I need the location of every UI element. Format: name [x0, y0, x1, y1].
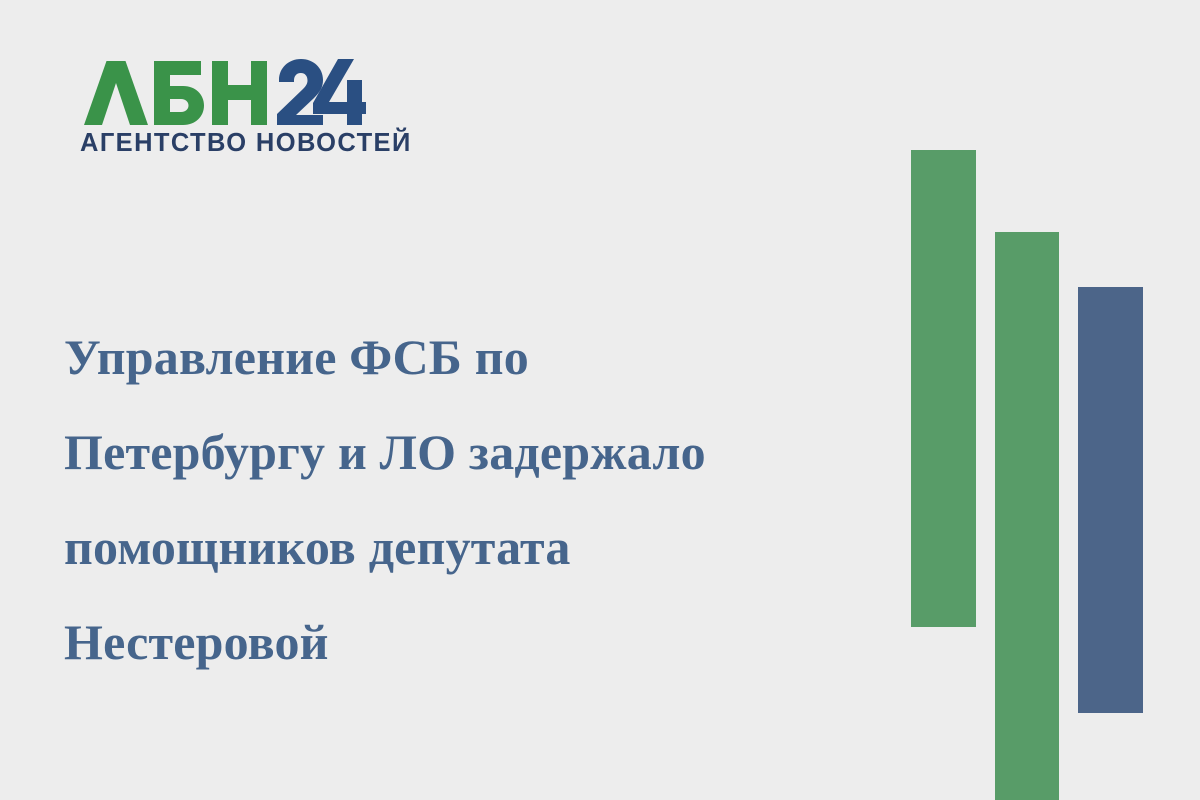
headline-line-3: помощников депутата — [64, 500, 894, 595]
brand-logo[interactable]: АГЕНТСТВО НОВОСТЕЙ — [80, 57, 370, 157]
news-card: АГЕНТСТВО НОВОСТЕЙ Управление ФСБ по Пет… — [0, 0, 1200, 800]
headline-line-4: Нестеровой — [64, 595, 894, 690]
page-title: Управление ФСБ по Петербургу и ЛО задерж… — [64, 310, 894, 690]
bar-chart-bar-1 — [911, 150, 976, 627]
logo-tagline: АГЕНТСТВО НОВОСТЕЙ — [80, 131, 370, 157]
bar-chart-bar-2 — [995, 232, 1059, 800]
headline-line-2: Петербургу и ЛО задержало — [64, 405, 894, 500]
bar-chart-bar-3 — [1078, 287, 1143, 713]
headline-line-1: Управление ФСБ по — [64, 310, 894, 405]
logo-wordmark-icon — [80, 57, 366, 129]
